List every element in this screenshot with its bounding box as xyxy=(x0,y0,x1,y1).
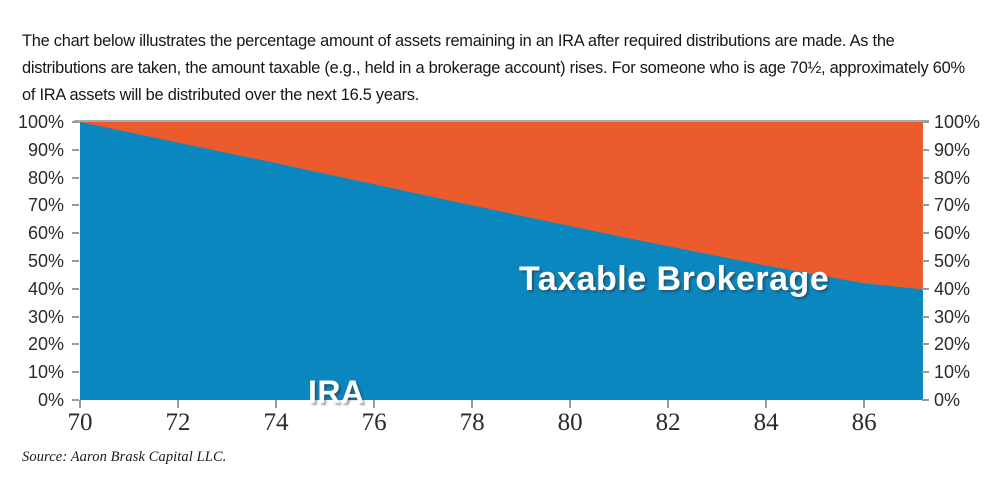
x-axis-label-82: 82 xyxy=(656,410,681,436)
y-axis-tick-right-100 xyxy=(922,121,929,123)
y-axis-label-left-50: 50% xyxy=(28,252,64,270)
y-axis-tick-left-50 xyxy=(72,260,79,262)
y-axis-tick-left-90 xyxy=(72,149,79,151)
y-axis-tick-left-20 xyxy=(72,343,79,345)
y-axis-label-right-20: 20% xyxy=(934,335,970,353)
y-axis-label-left-30: 30% xyxy=(28,308,64,326)
x-axis-tick-76 xyxy=(373,400,375,408)
x-axis-tick-86 xyxy=(863,400,865,408)
y-axis-tick-left-10 xyxy=(72,371,79,373)
y-axis-label-right-80: 80% xyxy=(934,169,970,187)
y-axis-label-left-0: 0% xyxy=(38,391,64,409)
y-axis-label-left-90: 90% xyxy=(28,141,64,159)
chart-page: The chart below illustrates the percenta… xyxy=(0,0,1000,482)
y-axis-tick-right-80 xyxy=(922,177,929,179)
y-axis-tick-right-20 xyxy=(922,343,929,345)
y-axis-tick-left-40 xyxy=(72,288,79,290)
x-axis-label-80: 80 xyxy=(558,410,583,436)
y-axis-tick-right-30 xyxy=(922,316,929,318)
x-axis-label-78: 78 xyxy=(460,410,485,436)
x-axis-tick-72 xyxy=(177,400,179,408)
y-axis-label-right-40: 40% xyxy=(934,280,970,298)
x-axis-label-72: 72 xyxy=(166,410,191,436)
y-axis-tick-right-40 xyxy=(922,288,929,290)
y-axis-tick-left-80 xyxy=(72,177,79,179)
series-label-ira: IRA xyxy=(308,374,365,411)
x-axis-tick-78 xyxy=(471,400,473,408)
x-axis-tick-70 xyxy=(79,400,81,408)
y-axis-tick-right-60 xyxy=(922,232,929,234)
y-axis-tick-left-30 xyxy=(72,316,79,318)
y-axis-label-left-80: 80% xyxy=(28,169,64,187)
y-axis-tick-left-0 xyxy=(72,399,79,401)
y-axis-tick-right-0 xyxy=(922,399,929,401)
y-axis-label-right-60: 60% xyxy=(934,224,970,242)
y-axis-label-right-50: 50% xyxy=(934,252,970,270)
y-axis-label-right-30: 30% xyxy=(934,308,970,326)
x-axis-label-86: 86 xyxy=(852,410,877,436)
y-axis-label-left-60: 60% xyxy=(28,224,64,242)
y-axis-label-left-40: 40% xyxy=(28,280,64,298)
x-axis-label-84: 84 xyxy=(754,410,779,436)
y-axis-tick-right-10 xyxy=(922,371,929,373)
y-axis-label-right-100: 100% xyxy=(934,113,980,131)
x-axis-tick-80 xyxy=(569,400,571,408)
y-axis-label-right-90: 90% xyxy=(934,141,970,159)
x-axis-tick-84 xyxy=(765,400,767,408)
y-axis-label-right-0: 0% xyxy=(934,391,960,409)
y-axis-label-left-100: 100% xyxy=(18,113,64,131)
y-axis-tick-left-60 xyxy=(72,232,79,234)
y-axis-tick-right-50 xyxy=(922,260,929,262)
series-label-taxable-brokerage: Taxable Brokerage xyxy=(519,260,829,299)
x-axis-tick-82 xyxy=(667,400,669,408)
y-axis-tick-left-100 xyxy=(72,121,79,123)
y-axis-label-left-20: 20% xyxy=(28,335,64,353)
y-axis-tick-right-90 xyxy=(922,149,929,151)
y-axis-label-right-70: 70% xyxy=(934,196,970,214)
x-axis-label-76: 76 xyxy=(362,410,387,436)
x-axis-label-70: 70 xyxy=(68,410,93,436)
y-axis-tick-left-70 xyxy=(72,204,79,206)
stacked-area-chart: Taxable Brokerage IRA 100%100%90%90%80%8… xyxy=(0,108,1000,438)
y-axis-tick-right-70 xyxy=(922,204,929,206)
intro-paragraph: The chart below illustrates the percenta… xyxy=(22,28,982,109)
y-axis-label-right-10: 10% xyxy=(934,363,970,381)
x-axis-label-74: 74 xyxy=(264,410,289,436)
source-caption: Source: Aaron Brask Capital LLC. xyxy=(22,449,226,466)
y-axis-label-left-10: 10% xyxy=(28,363,64,381)
y-axis-label-left-70: 70% xyxy=(28,196,64,214)
x-axis-tick-74 xyxy=(275,400,277,408)
